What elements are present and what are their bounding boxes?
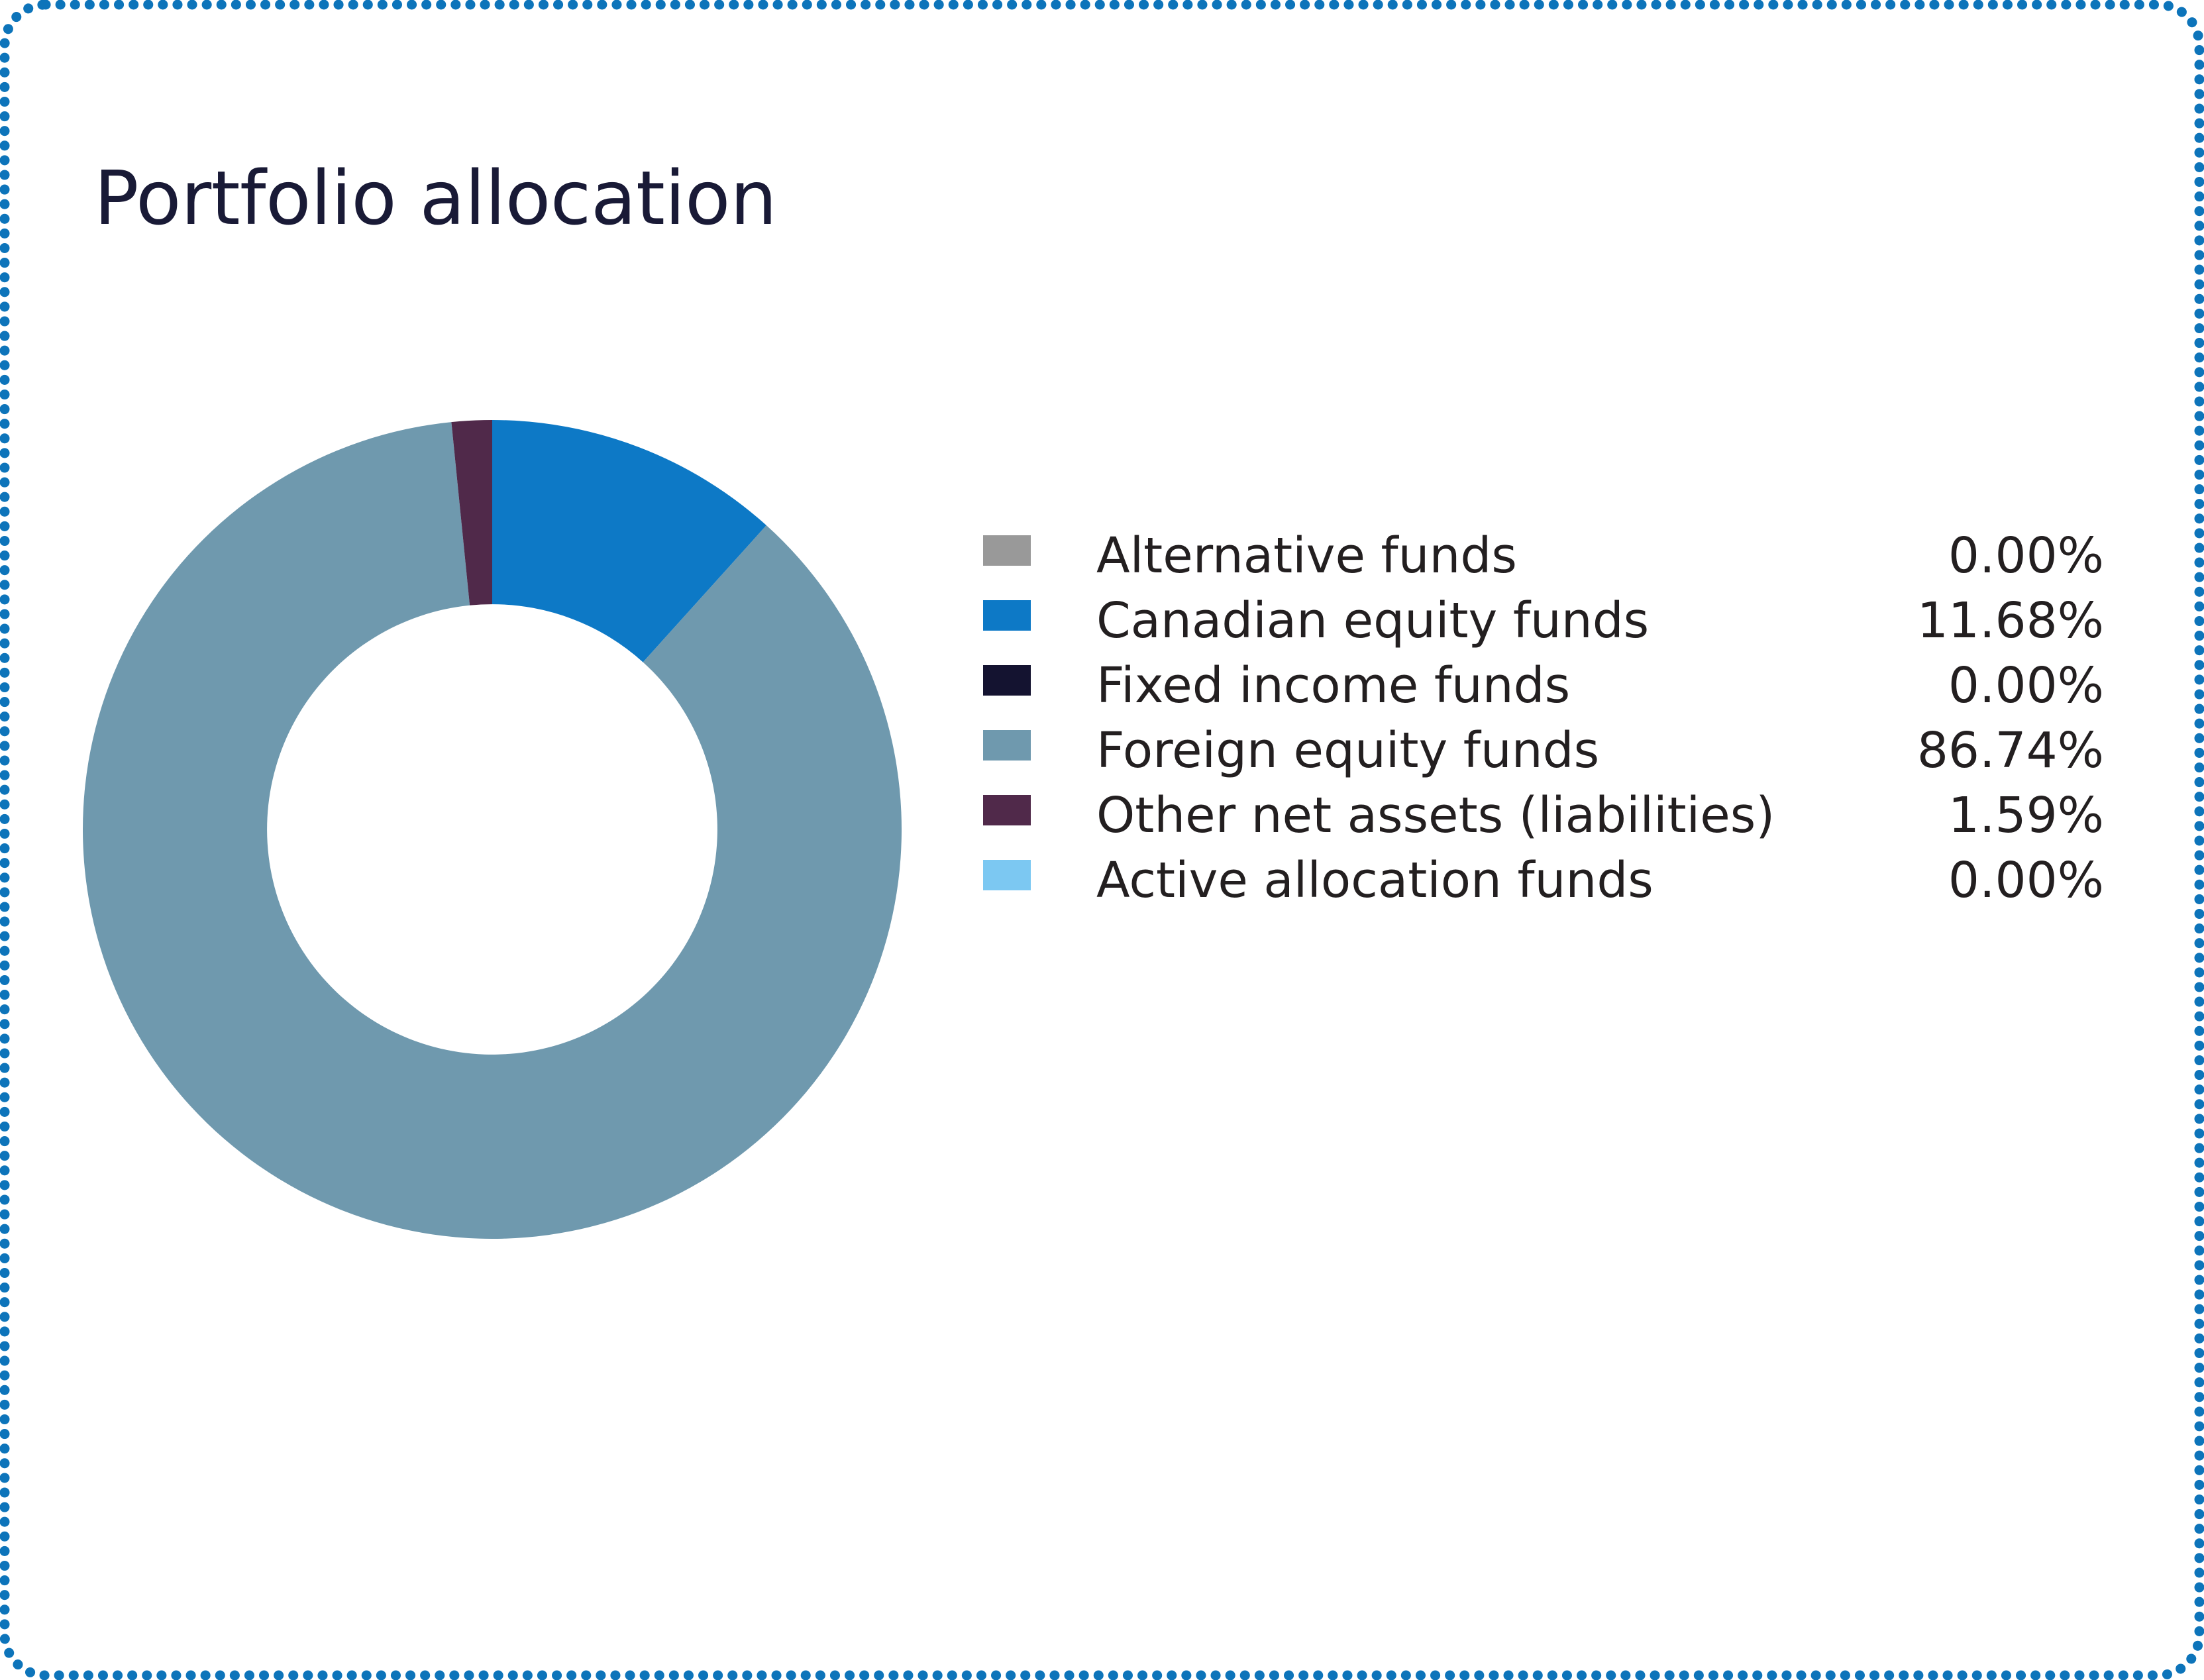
legend-value: 0.00%: [1948, 653, 2104, 718]
legend-item-other-net-assets[interactable]: Other net assets (liabilities) 1.59%: [983, 783, 2104, 848]
legend-item-canadian-equity-funds[interactable]: Canadian equity funds 11.68%: [983, 588, 2104, 653]
legend-swatch-icon: [983, 795, 1031, 825]
legend-swatch-icon: [983, 730, 1031, 761]
page-title: Portfolio allocation: [94, 162, 776, 236]
legend-value: 86.74%: [1917, 718, 2104, 783]
legend-label: Fixed income funds: [1096, 653, 1570, 718]
legend-item-active-allocation-funds[interactable]: Active allocation funds 0.00%: [983, 848, 2104, 913]
legend-label: Alternative funds: [1096, 523, 1517, 588]
legend-item-foreign-equity-funds[interactable]: Foreign equity funds 86.74%: [983, 718, 2104, 783]
portfolio-allocation-donut-chart: [83, 420, 902, 1239]
legend-label: Foreign equity funds: [1096, 718, 1599, 783]
legend-value: 0.00%: [1948, 523, 2104, 588]
legend-swatch-icon: [983, 535, 1031, 566]
legend-value: 0.00%: [1948, 848, 2104, 913]
legend-item-alternative-funds[interactable]: Alternative funds 0.00%: [983, 523, 2104, 588]
legend-label: Active allocation funds: [1096, 848, 1653, 913]
legend-value: 1.59%: [1948, 783, 2104, 848]
legend-label: Canadian equity funds: [1096, 588, 1649, 653]
legend-swatch-icon: [983, 860, 1031, 890]
legend-swatch-icon: [983, 665, 1031, 696]
portfolio-allocation-card: Portfolio allocation Alternative funds 0…: [0, 0, 2204, 1680]
chart-legend: Alternative funds 0.00% Canadian equity …: [983, 523, 2104, 913]
legend-swatch-icon: [983, 600, 1031, 631]
legend-value: 11.68%: [1917, 588, 2104, 653]
donut-svg: [83, 420, 902, 1239]
legend-label: Other net assets (liabilities): [1096, 783, 1775, 848]
legend-item-fixed-income-funds[interactable]: Fixed income funds 0.00%: [983, 653, 2104, 718]
